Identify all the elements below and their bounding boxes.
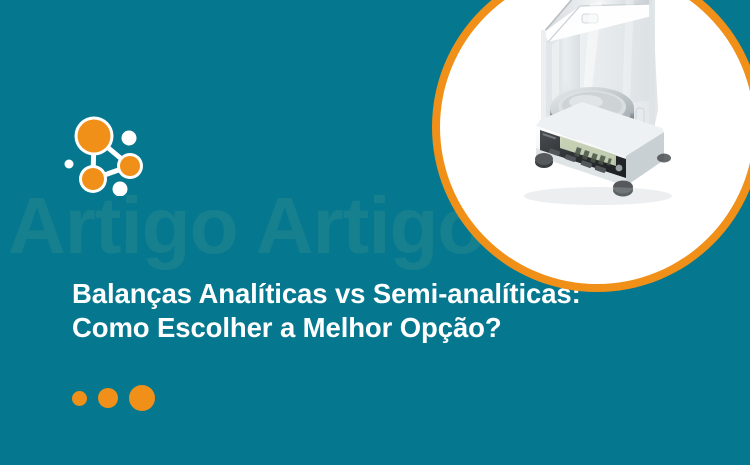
dot-small xyxy=(72,391,87,406)
dot-large xyxy=(129,385,155,411)
analytical-balance-photo xyxy=(440,0,750,284)
dot-medium xyxy=(98,388,118,408)
logo-node-medium-orange-right-fill xyxy=(120,156,140,176)
logo-node-small-white-bottom xyxy=(113,182,128,197)
logo-node-medium-orange-bottom-fill xyxy=(82,168,104,190)
power-indicator xyxy=(616,165,623,172)
logo-node-small-white-top xyxy=(122,131,137,146)
article-banner: Artigo Artigo Balanças Analíticas vs Sem… xyxy=(0,0,750,465)
molecule-network-logo xyxy=(58,106,154,196)
decorative-dots xyxy=(72,385,155,411)
medallion-inner-disc xyxy=(440,0,750,284)
balance-photo-medallion xyxy=(432,0,750,292)
title-line-2: Como Escolher a Melhor Opção? xyxy=(72,311,692,345)
logo-node-tiny-white-left xyxy=(65,160,74,169)
photo-shadow xyxy=(524,187,672,205)
logo-node-large-orange-fill xyxy=(78,120,111,153)
